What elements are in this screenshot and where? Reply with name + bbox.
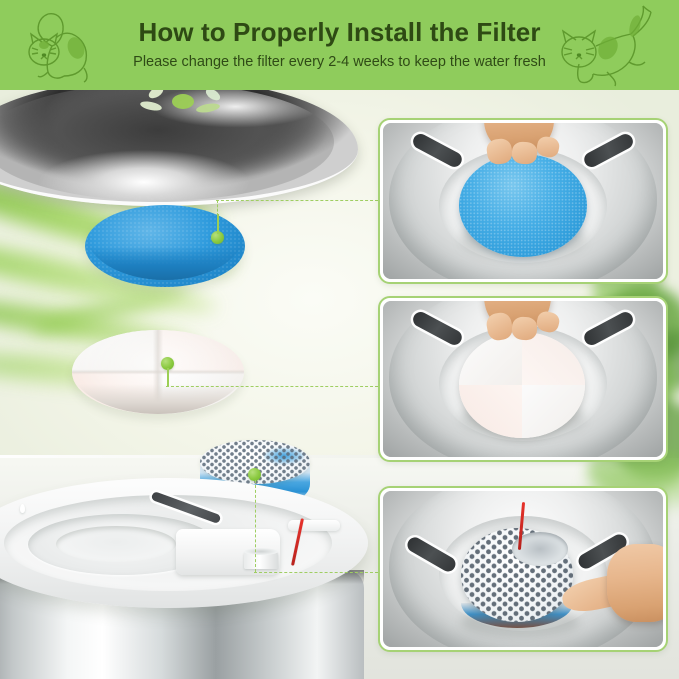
panel-install-sponge[interactable] (378, 118, 668, 284)
product-instruction-graphic: How to Properly Install the Filter Pleas… (0, 0, 679, 679)
finger (511, 141, 538, 165)
callout-stem (217, 214, 219, 234)
callout-stem (167, 368, 169, 386)
callout-line-cotton (166, 386, 378, 387)
finger (511, 316, 537, 341)
hand (607, 544, 663, 622)
panel-photo (383, 123, 663, 279)
blue-highlight (264, 448, 304, 464)
cotton-quadrant (72, 330, 158, 372)
panel-install-cotton[interactable] (378, 296, 668, 462)
cotton-quadrant (522, 385, 585, 438)
callout-line-sponge-vertical (217, 200, 218, 216)
base-tab (288, 520, 340, 532)
blue-sponge-filter (459, 154, 588, 257)
callout-stem-vertical (255, 480, 256, 572)
cotton-quadrant (459, 332, 522, 385)
panel-photo (383, 301, 663, 457)
white-cotton-filter (459, 332, 585, 438)
cat-lounging-icon (551, 0, 669, 88)
panel-photo (383, 491, 663, 647)
paw-print-icon (172, 94, 194, 109)
cotton-quadrant (459, 385, 522, 438)
header-banner: How to Properly Install the Filter Pleas… (0, 0, 679, 90)
cotton-quadrant (522, 332, 585, 385)
pump-nozzle (244, 551, 278, 569)
callout-line-honeycomb (254, 572, 378, 573)
water-drop-icon (20, 504, 25, 513)
callout-line-sponge (216, 200, 378, 201)
panel-install-honeycomb[interactable] (378, 486, 668, 652)
